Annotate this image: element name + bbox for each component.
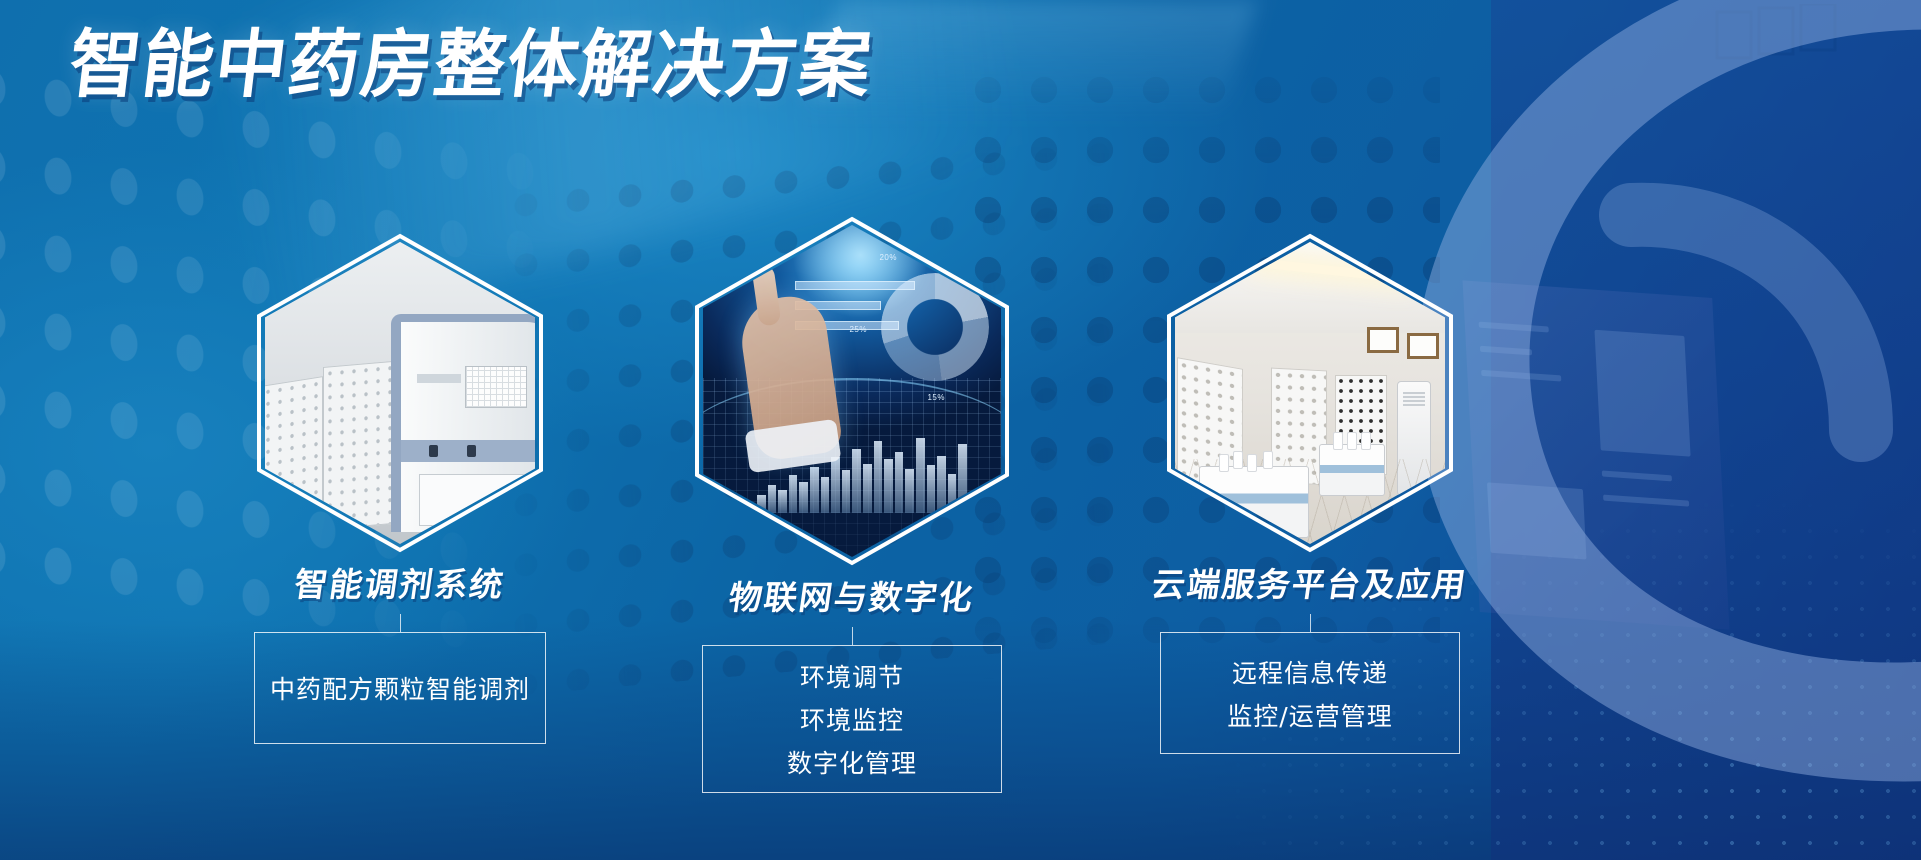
hex-outline-icon (1165, 232, 1455, 554)
hex-outline-icon (255, 232, 545, 554)
hex-frame-cloud (1165, 232, 1455, 554)
connector-line (1310, 614, 1311, 632)
detail-item: 监控/运营管理 (1227, 697, 1392, 733)
connector-line (852, 627, 853, 645)
card-detail-box: 远程信息传递 监控/运营管理 (1160, 632, 1460, 754)
card-intelligent-dispensing[interactable]: 智能调剂系统 中药配方颗粒智能调剂 (170, 232, 630, 744)
hex-frame-dispensing (255, 232, 545, 554)
card-detail-box: 中药配方颗粒智能调剂 (254, 632, 546, 744)
detail-item: 远程信息传递 (1232, 654, 1388, 690)
poster-canvas: 智能中药房整体解决方案 (0, 0, 1921, 860)
connector-line (400, 614, 401, 632)
detail-item: 数字化管理 (787, 744, 917, 780)
card-heading: 云端服务平台及应用 (1077, 558, 1544, 606)
detail-item: 环境监控 (800, 701, 904, 737)
card-heading: 物联网与数字化 (619, 571, 1086, 619)
card-heading: 智能调剂系统 (167, 558, 634, 606)
solution-cards: 智能调剂系统 中药配方颗粒智能调剂 20% 25% 15% (0, 0, 1921, 860)
hex-outline-icon (693, 215, 1011, 567)
detail-item: 环境调节 (800, 658, 904, 694)
card-cloud-platform[interactable]: 云端服务平台及应用 远程信息传递 监控/运营管理 (1080, 232, 1540, 754)
detail-item: 中药配方颗粒智能调剂 (270, 670, 530, 706)
card-iot-digital[interactable]: 20% 25% 15% (622, 215, 1082, 793)
card-detail-box: 环境调节 环境监控 数字化管理 (702, 645, 1002, 793)
hex-frame-iot: 20% 25% 15% (693, 215, 1011, 567)
